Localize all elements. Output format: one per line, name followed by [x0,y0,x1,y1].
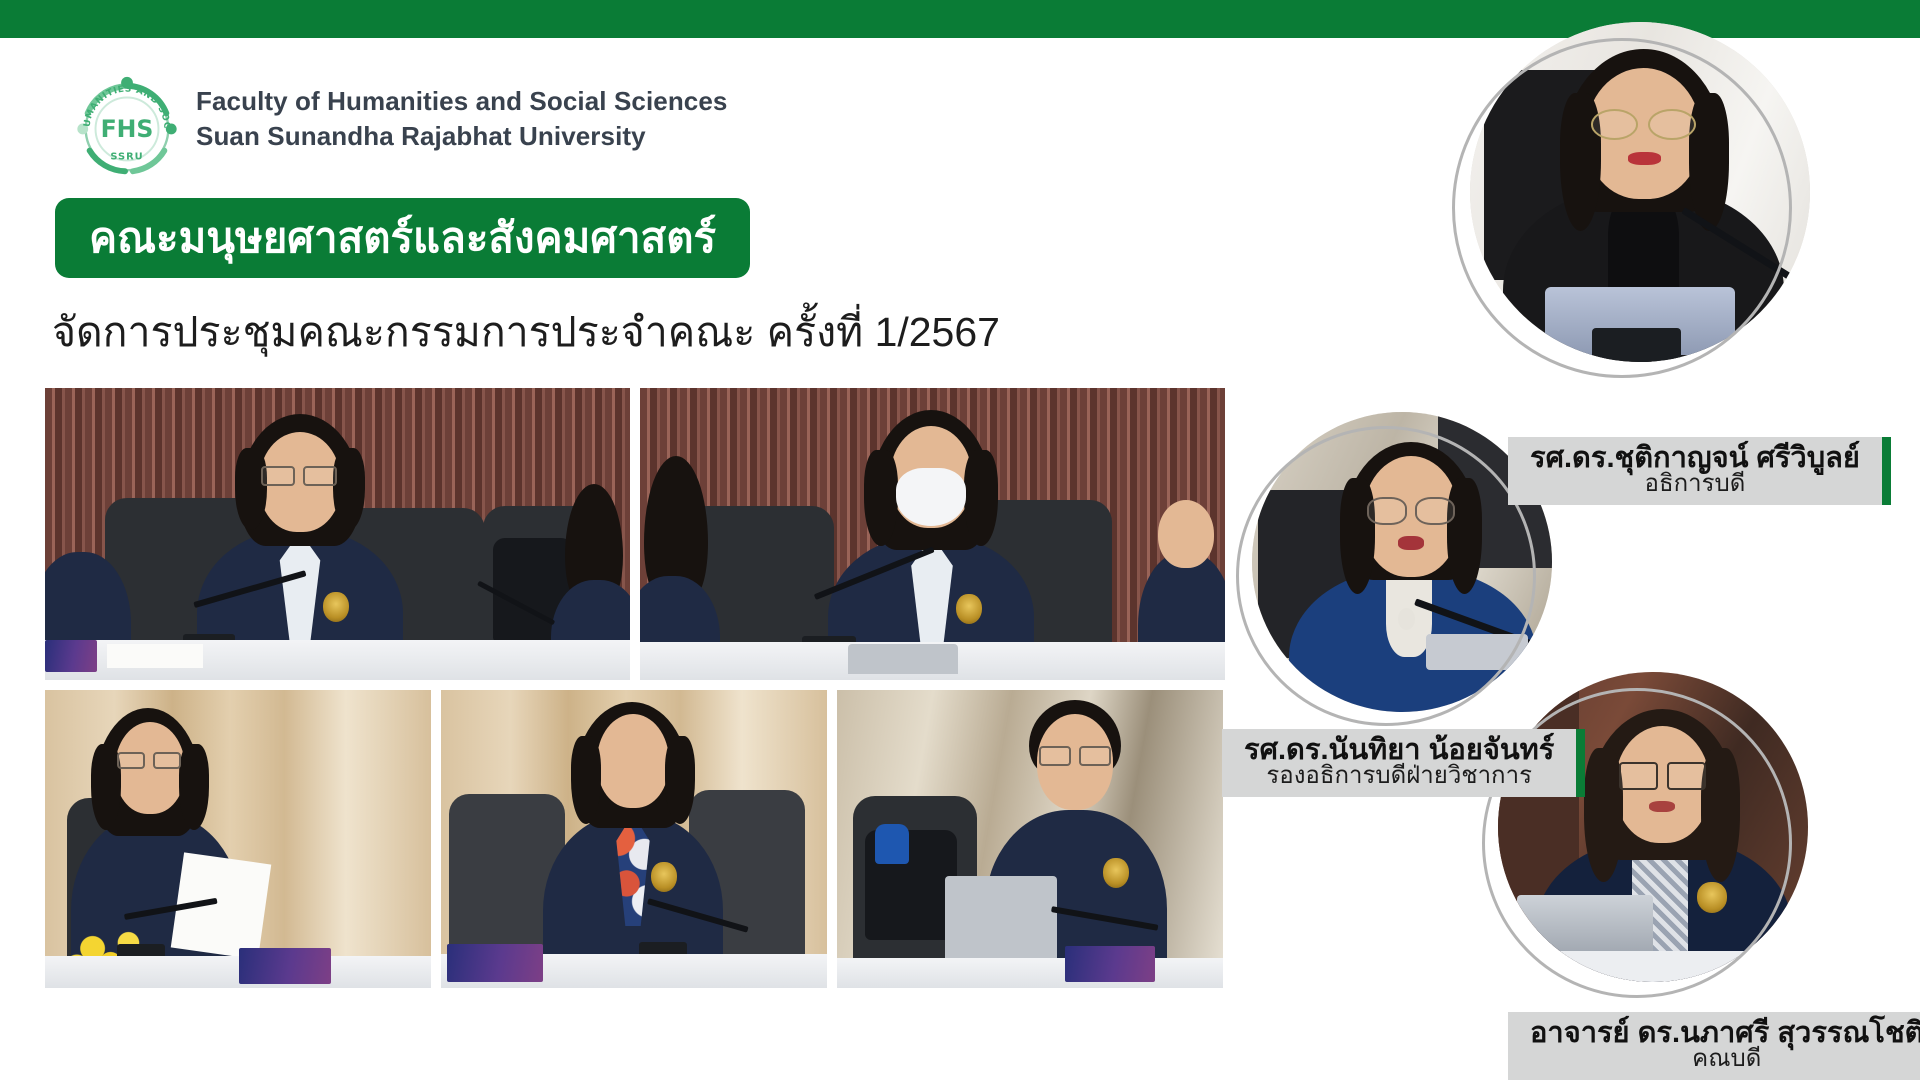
institution-header: Faculty of Humanities and Social Science… [196,84,728,153]
university-name-line: Suan Sunandha Rajabhat University [196,119,728,154]
poster-canvas: FACULTY OF HUMANITIES AND SOCIAL SCIENCE… [0,0,1920,1080]
fhs-ssru-logo-icon: FACULTY OF HUMANITIES AND SOCIAL SCIENCE… [68,68,186,186]
portrait-name-1: รศ.ดร.ชุติกาญจน์ ศรีวิบูลย์ [1530,443,1860,473]
portrait-president [1470,22,1810,362]
svg-text:SSRU: SSRU [110,151,143,162]
portrait-dean [1498,672,1808,982]
event-subtitle: จัดการประชุมคณะกรรมการประจำคณะ ครั้งที่ … [52,300,1000,365]
meeting-photo-2 [640,388,1225,680]
photo-row-1 [45,388,1225,680]
portrait-role-1: อธิการบดี [1530,471,1860,496]
svg-text:FHS: FHS [101,115,154,143]
meeting-photo-5 [837,690,1223,988]
meeting-photo-4 [441,690,827,988]
portrait-caption-1: รศ.ดร.ชุติกาญจน์ ศรีวิบูลย์ อธิการบดี [1508,437,1891,505]
faculty-name-line: Faculty of Humanities and Social Science… [196,84,728,119]
portrait-role-3: คณบดี [1530,1046,1920,1071]
portrait-caption-2: รศ.ดร.นันทิยา น้อยจันทร์ รองอธิการบดีฝ่า… [1222,729,1585,797]
photo-row-2 [45,690,1225,988]
portrait-vice-president-academic [1252,412,1552,712]
faculty-title-pill: คณะมนุษยศาสตร์และสังคมศาสตร์ [55,198,750,278]
portrait-caption-3: อาจารย์ ดร.นภาศรี สุวรรณโชติ คณบดี [1508,1012,1920,1080]
portrait-name-3: อาจารย์ ดร.นภาศรี สุวรรณโชติ [1530,1018,1920,1048]
portrait-name-2: รศ.ดร.นันทิยา น้อยจันทร์ [1244,735,1554,765]
portrait-role-2: รองอธิการบดีฝ่ายวิชาการ [1244,763,1554,788]
meeting-photo-3 [45,690,431,988]
meeting-photo-grid [45,388,1225,988]
faculty-title-label: คณะมนุษยศาสตร์และสังคมศาสตร์ [89,217,716,259]
meeting-photo-1 [45,388,630,680]
